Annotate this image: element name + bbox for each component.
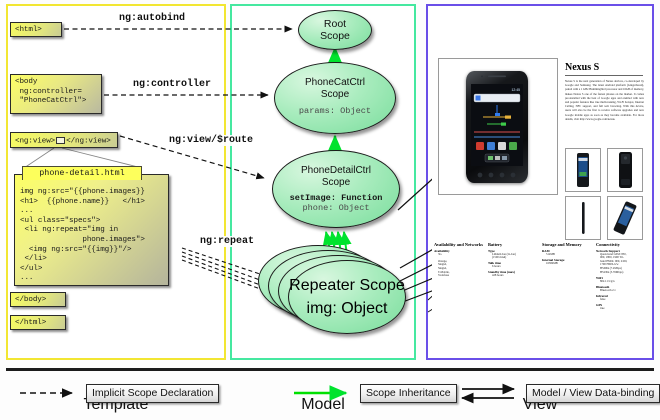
spec-column-header: Availability and Networks [434, 242, 486, 247]
view-rendered-page: 12:45 [432, 10, 650, 346]
thumbnail-4[interactable] [607, 196, 643, 240]
product-title: Nexus S [565, 62, 599, 73]
scope-phonedetailctrl: PhoneDetailCtrl Scope setImage: Function… [272, 150, 400, 228]
thumbnail-1[interactable] [565, 148, 601, 192]
spec-entry-value: 16384MB [542, 262, 594, 266]
phone-bezel-art [466, 71, 528, 183]
edge-label-ngrepeat: ng:repeat [198, 236, 256, 247]
edge-label-autobind: ng:autobind [117, 13, 187, 24]
scope-root-label: Root Scope [299, 19, 371, 42]
spec-column-header: Battery [488, 242, 540, 247]
ngview-open-tag: <ng:view> [15, 137, 55, 145]
ngview-placeholder-icon [56, 137, 65, 144]
spec-entry-value: Bluetooth 2.1 [596, 289, 648, 293]
scope-repeater: Repeater Scope img: Object [288, 260, 406, 334]
scope-phonecatctrl-prop-params: params: Object [275, 106, 395, 116]
hero-image-frame: 12:45 [438, 58, 558, 195]
spec-entry-value: true [596, 307, 648, 311]
legend-item-scope-inheritance: Scope Inheritance [292, 382, 457, 404]
phone-illustration: 12:45 [466, 71, 528, 183]
thumbnail-3[interactable] [565, 196, 601, 240]
scope-phonecatctrl-label: PhoneCatCtrl Scope [275, 77, 395, 100]
spec-entry-value: Quad-band GSM: 850, 900, 1800, 1900 Tri-… [596, 253, 648, 275]
ngview-close-tag: </ng:view> [66, 137, 111, 145]
detail-filename-label: phone-detail.html [22, 166, 142, 180]
thumbnail-phone-front-art [566, 149, 600, 191]
green-arrow-icon [292, 382, 356, 404]
specs-table: Availability and Networks Availability 3… [434, 242, 648, 337]
scope-phonedetailctrl-prop-phone: phone: Object [273, 203, 399, 213]
legend-divider [6, 368, 654, 371]
scope-repeater-prop-img: img: Object [289, 300, 405, 318]
scope-repeater-label: Repeater Scope [289, 277, 405, 295]
legend-label: Scope Inheritance [360, 384, 457, 403]
scope-phonecatctrl: PhoneCatCtrl Scope params: Object [274, 62, 396, 134]
legend-item-implicit-scope-declaration: Implicit Scope Declaration [18, 382, 219, 404]
thumbnail-phone-angled-art [608, 197, 642, 239]
title-divider [565, 75, 643, 76]
edge-label-ngview-route: ng:view/$route [167, 135, 255, 146]
scope-phonedetailctrl-prop-setimage: setImage: Function [273, 193, 399, 203]
spec-entry-value: false [596, 298, 648, 302]
product-description: Nexus S is the next generation of Nexus … [565, 79, 644, 141]
legend-label: Model / View Data-binding [526, 384, 660, 403]
spec-entry-value: 6 hours [488, 265, 540, 269]
code-ngview-tag: <ng:view></ng:view> [10, 132, 118, 148]
code-phone-detail-html: img ng:src="{{phone.images}} <h1> {{phon… [14, 174, 169, 286]
thumbnail-2[interactable] [607, 148, 643, 192]
code-body-open: <body ng:controller= "PhoneCatCtrl"> [10, 74, 102, 114]
spec-column-header: Storage and Memory [542, 242, 594, 247]
spec-entry-value: 512MB [542, 253, 594, 257]
spec-column: Battery Type Lithium Ion (Li-Ion) (1500 … [488, 242, 540, 337]
spec-column-header: Connectivity [596, 242, 648, 247]
thumbnail-phone-side-art [566, 197, 600, 239]
spec-column: Connectivity Network Support Quad-band G… [596, 242, 648, 337]
spec-column: Availability and Networks Availability 3… [434, 242, 486, 337]
scope-root: Root Scope [298, 10, 372, 50]
code-html-open: <html> [10, 22, 62, 37]
legend: Implicit Scope Declaration Scope Inherit… [0, 380, 660, 412]
spec-entry-value: 428 hours [488, 274, 540, 278]
spec-entry-value: 802.11 b/g/n [596, 280, 648, 284]
diagram-canvas: <html> <body ng:controller= "PhoneCatCtr… [0, 0, 660, 420]
scope-repeater-stack: Repeater Scope img: Object [258, 243, 408, 335]
code-body-close: </body> [10, 292, 66, 307]
double-arrow-icon [458, 382, 522, 404]
spec-entry-value: Lithium Ion (Li-Ion) (1500 mAh) [488, 253, 540, 260]
edge-label-controller: ng:controller [131, 79, 213, 90]
code-html-close: </html> [10, 315, 66, 330]
spec-entry-value: 3G Orange, Singtel, Singtel, T-Mobile, V… [434, 253, 486, 278]
legend-item-model-view-data-binding: Model / View Data-binding [458, 382, 660, 404]
dashed-arrow-icon [18, 382, 82, 404]
thumbnail-phone-back-art [608, 149, 642, 191]
legend-label: Implicit Scope Declaration [86, 384, 219, 403]
scope-phonedetailctrl-label: PhoneDetailCtrl Scope [273, 165, 399, 188]
spec-column: Storage and Memory RAM 512MB Internal St… [542, 242, 594, 337]
